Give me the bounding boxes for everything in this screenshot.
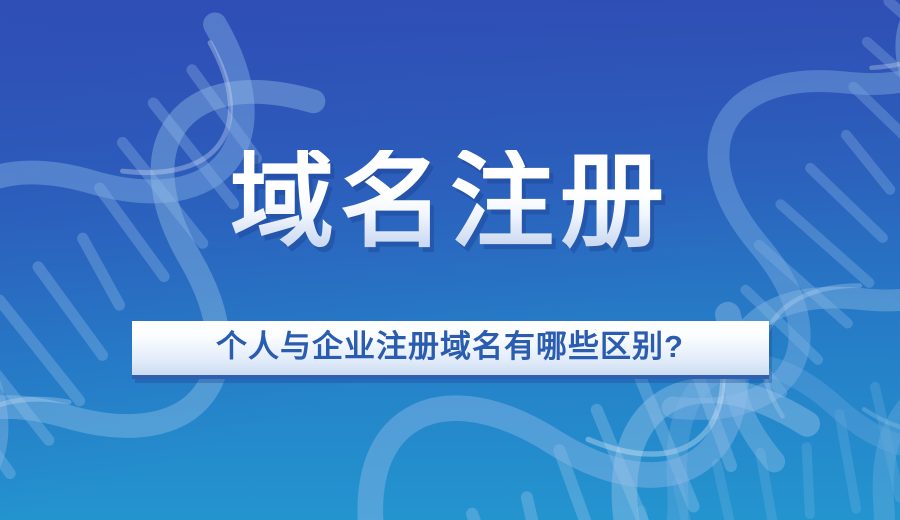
dna-helix-left: [0, 0, 387, 520]
dna-helix-lower-right: [483, 255, 900, 520]
subtitle-container: 个人与企业注册域名有哪些区别?: [0, 321, 900, 379]
banner-title: 域名注册: [230, 150, 670, 254]
promo-banner: 域名注册 个人与企业注册域名有哪些区别?: [0, 0, 900, 520]
headline-container: 域名注册: [0, 150, 900, 254]
dna-helix-decoration: [0, 0, 900, 520]
subtitle-plate: 个人与企业注册域名有哪些区别?: [132, 321, 769, 379]
banner-subtitle: 个人与企业注册域名有哪些区别?: [158, 330, 743, 364]
